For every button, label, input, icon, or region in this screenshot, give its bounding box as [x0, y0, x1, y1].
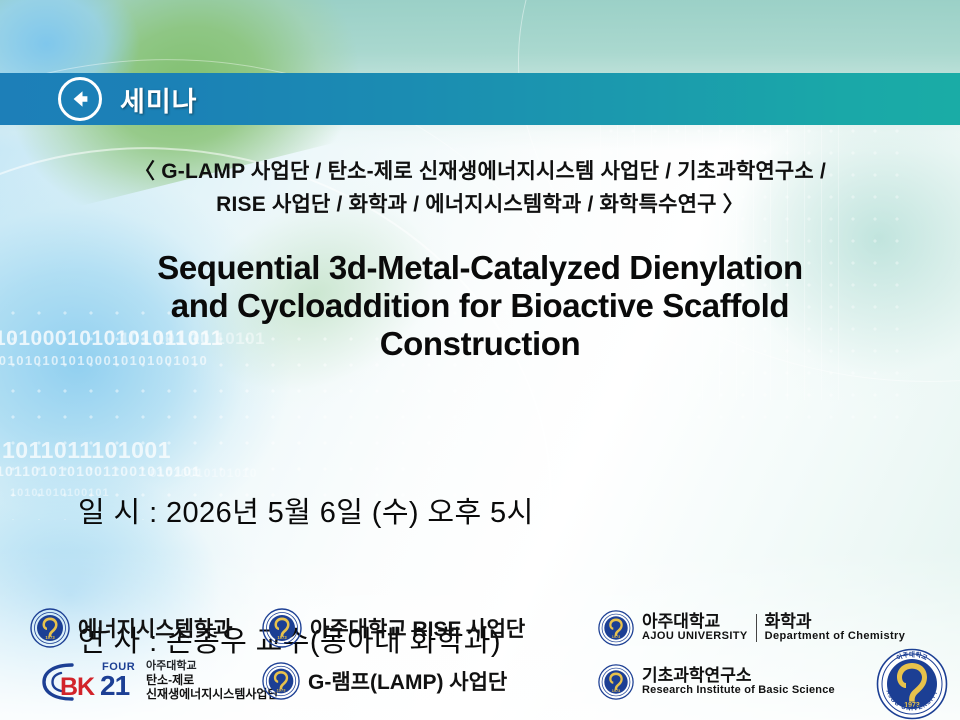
header-title: 세미나	[120, 80, 198, 119]
ajou-seal-icon: 1973	[598, 610, 634, 646]
seminar-poster: 1010001010101011011 10101010101000101010…	[0, 0, 960, 720]
title-line-3: Construction	[22, 325, 938, 363]
basic-science-en: Research Institute of Basic Science	[642, 685, 835, 697]
chemistry-university-en: AJOU UNIVERSITY	[642, 631, 748, 643]
ajou-seal-large-icon: 1973 아주대학교 AJOU UNIVERSITY	[876, 648, 948, 720]
chemistry-dept-col: 화학과 Department of Chemistry	[765, 613, 906, 643]
sponsor-line-1: 〈 G-LAMP 사업단 / 탄소-제로 신재생에너지시스템 사업단 / 기초과…	[0, 155, 960, 188]
seminar-title: Sequential 3d-Metal-Catalyzed Dienylatio…	[22, 249, 938, 363]
header-band: 세미나	[0, 73, 960, 125]
chemistry-dept-ko: 화학과	[765, 613, 906, 631]
title-line-1: Sequential 3d-Metal-Catalyzed Dienylatio…	[22, 249, 938, 287]
back-button[interactable]	[58, 77, 102, 121]
ajou-university-seal: 1973 아주대학교 AJOU UNIVERSITY	[876, 648, 948, 720]
ajou-seal-icon: 1973	[262, 608, 302, 648]
logo-row: 1973 에너지시스템학과 BK FOUR 21 아주대학교 탄소-제로 신재생…	[0, 600, 960, 720]
ajou-seal-icon: 1973	[262, 662, 300, 700]
chemistry-wordmark: 아주대학교 AJOU UNIVERSITY 화학과 Department of …	[642, 613, 905, 643]
svg-text:1973: 1973	[277, 687, 287, 692]
basic-science-ko: 기초과학연구소	[642, 667, 835, 685]
bk21-caption: 아주대학교 탄소-제로 신재생에너지시스템사업단	[146, 660, 278, 701]
logo-glamp: 1973 G-램프(LAMP) 사업단	[262, 662, 507, 700]
basic-science-wordmark: 기초과학연구소 Research Institute of Basic Scie…	[642, 667, 835, 696]
title-line-2: and Cycloaddition for Bioactive Scaffold	[22, 287, 938, 325]
logo-rise: 1973 아주대학교 RISE 사업단	[262, 608, 525, 648]
svg-text:1973: 1973	[612, 689, 620, 693]
bk21-line-3: 신재생에너지시스템사업단	[146, 687, 278, 701]
logo-rise-label: 아주대학교 RISE 사업단	[310, 613, 525, 643]
chemistry-university-ko: 아주대학교	[642, 613, 748, 631]
svg-text:1973: 1973	[45, 635, 55, 640]
ajou-seal-icon: 1973	[598, 664, 634, 700]
bk21-bk-text: BK	[60, 673, 94, 702]
sponsor-line-2: RISE 사업단 / 화학과 / 에너지시스템학과 / 화학특수연구 〉	[0, 188, 960, 221]
svg-text:1973: 1973	[612, 635, 620, 639]
detail-datetime: 일 시 : 2026년 5월 6일 (수) 오후 5시	[78, 492, 577, 535]
svg-text:1973: 1973	[277, 635, 287, 640]
logo-chemistry: 1973 아주대학교 AJOU UNIVERSITY 화학과 Departmen…	[598, 610, 905, 646]
chemistry-university-col: 아주대학교 AJOU UNIVERSITY	[642, 613, 748, 643]
sponsor-list: 〈 G-LAMP 사업단 / 탄소-제로 신재생에너지시스템 사업단 / 기초과…	[0, 155, 960, 221]
logo-glamp-label: G-램프(LAMP) 사업단	[308, 666, 507, 696]
bk21-mark: BK FOUR 21	[32, 661, 140, 701]
ajou-seal-icon: 1973	[30, 608, 70, 648]
logo-energy-system: 1973 에너지시스템학과	[30, 608, 233, 648]
bk21-21-text: 21	[100, 670, 129, 702]
wordmark-divider	[756, 614, 757, 642]
logo-energy-system-label: 에너지시스템학과	[78, 613, 233, 643]
chemistry-dept-en: Department of Chemistry	[765, 631, 906, 643]
bk21-line-1: 아주대학교	[146, 660, 278, 673]
back-arrow-icon	[69, 88, 91, 110]
bk21-line-2: 탄소-제로	[146, 673, 278, 687]
logo-bk21: BK FOUR 21 아주대학교 탄소-제로 신재생에너지시스템사업단	[32, 660, 278, 701]
logo-basic-science: 1973 기초과학연구소 Research Institute of Basic…	[598, 664, 835, 700]
